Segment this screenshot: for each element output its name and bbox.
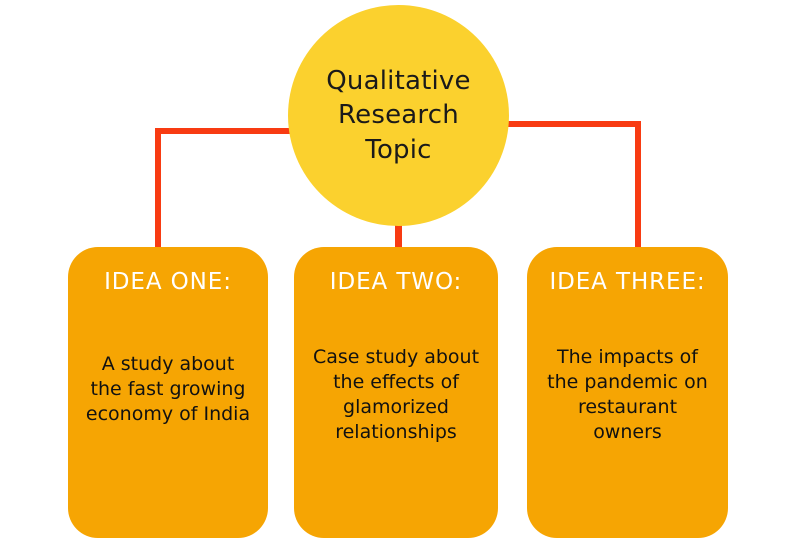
connector-left-vertical: [155, 128, 161, 252]
connector-right-vertical: [635, 121, 641, 252]
idea-three-heading: IDEA THREE:: [549, 269, 705, 297]
idea-card-one: IDEA ONE: A study about the fast growing…: [68, 247, 268, 538]
root-topic-circle: Qualitative Research Topic: [288, 5, 509, 226]
idea-one-heading: IDEA ONE:: [104, 269, 232, 297]
idea-three-body: The impacts of the pandemic on restauran…: [537, 345, 718, 446]
root-topic-line-1: Qualitative: [326, 64, 470, 99]
diagram-canvas: Qualitative Research Topic IDEA ONE: A s…: [0, 0, 800, 560]
idea-two-heading: IDEA TWO:: [330, 269, 462, 297]
root-topic-line-2: Research: [326, 98, 470, 133]
idea-card-two: IDEA TWO: Case study about the effects o…: [294, 247, 498, 538]
idea-two-body: Case study about the effects of glamoriz…: [304, 345, 488, 446]
idea-one-body: A study about the fast growing economy o…: [78, 352, 258, 428]
root-topic-line-3: Topic: [326, 133, 470, 168]
idea-card-three: IDEA THREE: The impacts of the pandemic …: [527, 247, 728, 538]
root-topic-label: Qualitative Research Topic: [310, 64, 486, 168]
